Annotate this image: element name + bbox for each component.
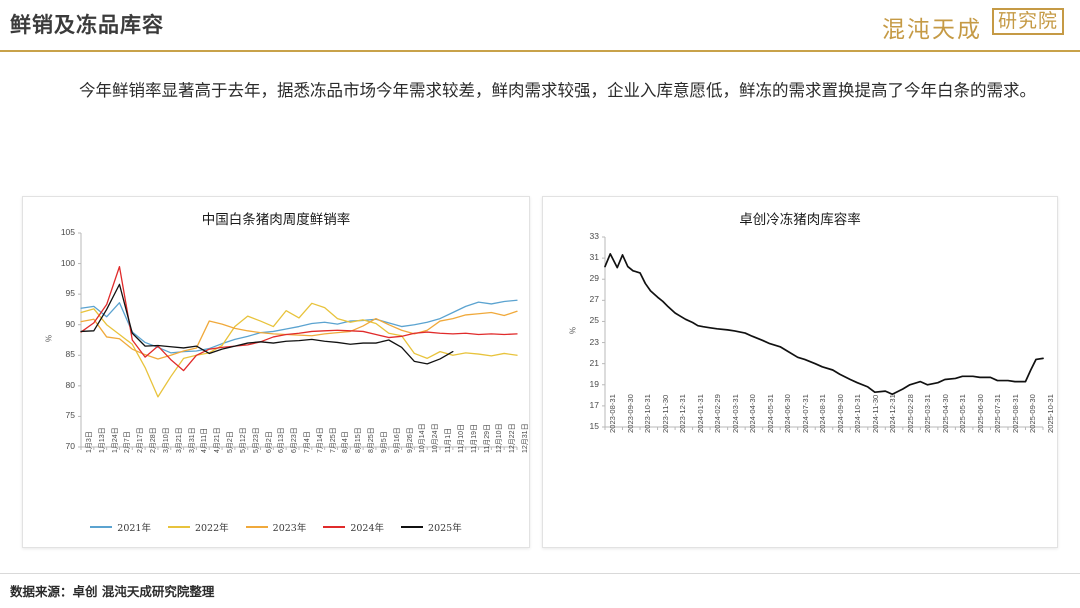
x-tick-label: 2024-09-30: [836, 394, 845, 433]
x-tick-label: 2月17日: [135, 427, 145, 453]
x-tick-label: 8月4日: [340, 431, 350, 453]
y-tick-label: 31: [573, 252, 599, 262]
x-tick-label: 7月14日: [315, 427, 325, 453]
x-tick-label: 2025-02-28: [906, 394, 915, 433]
x-tick-label: 2月28日: [148, 427, 158, 453]
x-tick-label: 12月31日: [520, 423, 530, 453]
chart-legend-left: 2021年2022年2023年2024年2025年: [23, 520, 529, 534]
x-tick-label: 12月10日: [494, 423, 504, 453]
x-tick-label: 7月25日: [328, 427, 338, 453]
y-axis-label: %: [45, 319, 54, 359]
x-tick-label: 6月13日: [276, 427, 286, 453]
x-tick-label: 9月5日: [379, 431, 389, 453]
page-header: 鲜销及冻品库容 混沌天成 研究院: [0, 0, 1080, 52]
legend-item[interactable]: 2025年: [401, 520, 462, 534]
y-tick-label: 105: [49, 227, 75, 237]
x-tick-label: 3月31日: [187, 427, 197, 453]
legend-color-swatch: [168, 526, 190, 528]
x-tick-label: 1月13日: [97, 427, 107, 453]
x-tick-label: 5月2日: [225, 431, 235, 453]
x-tick-label: 2025-05-31: [958, 394, 967, 433]
x-tick-label: 4月11日: [199, 428, 209, 453]
x-tick-label: 9月26日: [405, 427, 415, 453]
x-tick-label: 8月15日: [353, 427, 363, 453]
legend-label: 2024年: [350, 520, 384, 534]
x-tick-label: 2025-03-31: [923, 394, 932, 433]
y-tick-label: 17: [573, 400, 599, 410]
series-line: [81, 303, 517, 397]
y-tick-label: 27: [573, 294, 599, 304]
x-tick-label: 10月24日: [430, 423, 440, 453]
x-tick-label: 2025-10-31: [1046, 394, 1055, 433]
chart-panel-cold-storage-rate: 卓创冷冻猪肉库容率 15171921232527293133%2023-08-3…: [542, 196, 1058, 548]
x-tick-label: 2024-02-29: [713, 394, 722, 433]
y-tick-label: 29: [573, 273, 599, 283]
y-tick-label: 33: [573, 231, 599, 241]
series-line: [81, 300, 517, 353]
legend-item[interactable]: 2021年: [90, 520, 151, 534]
x-tick-label: 11月1日: [443, 428, 453, 453]
x-tick-label: 11月29日: [482, 424, 492, 453]
x-tick-label: 7月4日: [302, 431, 312, 453]
y-tick-label: 80: [49, 380, 75, 390]
x-tick-label: 6月2日: [264, 431, 274, 453]
y-tick-label: 95: [49, 288, 75, 298]
x-tick-label: 2024-04-30: [748, 394, 757, 433]
x-tick-label: 2025-06-30: [976, 394, 985, 433]
x-tick-label: 2023-10-31: [643, 394, 652, 433]
x-tick-label: 2023-12-31: [678, 394, 687, 433]
x-tick-label: 2024-11-30: [871, 395, 880, 433]
logo-company-name: 混沌天成: [882, 10, 982, 44]
x-tick-label: 12月22日: [507, 423, 517, 453]
x-tick-label: 2025-07-31: [993, 394, 1002, 433]
y-tick-label: 15: [573, 421, 599, 431]
x-tick-label: 8月25日: [366, 427, 376, 453]
x-tick-label: 2024-10-31: [853, 394, 862, 433]
legend-color-swatch: [246, 526, 268, 528]
chart-plot-right: 15171921232527293133%2023-08-312023-09-3…: [543, 223, 1059, 523]
x-tick-label: 2025-09-30: [1028, 394, 1037, 433]
legend-color-swatch: [401, 526, 423, 528]
x-tick-label: 3月10日: [161, 427, 171, 453]
company-logo: 混沌天成 研究院: [866, 4, 1066, 44]
x-tick-label: 2024-12-31: [888, 394, 897, 433]
x-tick-label: 10月14日: [417, 423, 427, 453]
series-line: [605, 254, 1043, 394]
x-tick-label: 3月21日: [174, 427, 184, 453]
legend-label: 2021年: [117, 520, 151, 534]
y-tick-label: 70: [49, 441, 75, 451]
legend-label: 2023年: [273, 520, 307, 534]
x-tick-label: 2023-11-30: [661, 395, 670, 433]
x-tick-label: 2024-08-31: [818, 394, 827, 433]
x-tick-label: 2024-06-30: [783, 394, 792, 433]
x-tick-label: 2025-08-31: [1011, 394, 1020, 433]
chart-svg: [23, 223, 531, 513]
legend-label: 2025年: [428, 520, 462, 534]
y-tick-label: 21: [573, 358, 599, 368]
legend-item[interactable]: 2023年: [246, 520, 307, 534]
x-tick-label: 9月16日: [392, 427, 402, 453]
x-tick-label: 2024-07-31: [801, 394, 810, 433]
x-tick-label: 6月23日: [289, 427, 299, 453]
legend-item[interactable]: 2024年: [323, 520, 384, 534]
x-tick-label: 2024-03-31: [731, 394, 740, 433]
x-tick-label: 4月21日: [212, 427, 222, 453]
y-tick-label: 100: [49, 258, 75, 268]
x-tick-label: 5月12日: [238, 427, 248, 453]
chart-svg: [543, 223, 1059, 523]
x-tick-label: 1月24日: [110, 427, 120, 453]
logo-institute-badge: 研究院: [992, 8, 1064, 35]
x-tick-label: 2023-09-30: [626, 394, 635, 433]
x-tick-label: 2024-05-31: [766, 394, 775, 433]
data-source-note: 数据来源：卓创 混沌天成研究院整理: [10, 581, 214, 600]
summary-paragraph: 今年鲜销率显著高于去年，据悉冻品市场今年需求较差，鲜肉需求较强，企业入库意愿低，…: [46, 76, 1046, 107]
y-axis-label: %: [569, 311, 578, 351]
x-tick-label: 2024-01-31: [696, 394, 705, 433]
legend-color-swatch: [323, 526, 345, 528]
x-tick-label: 1月3日: [84, 431, 94, 453]
page-title: 鲜销及冻品库容: [10, 9, 164, 39]
chart-plot-left: 707580859095100105%1月3日1月13日1月24日2月7日2月1…: [23, 223, 531, 513]
x-tick-label: 2023-08-31: [608, 394, 617, 433]
legend-label: 2022年: [195, 520, 229, 534]
y-tick-label: 19: [573, 379, 599, 389]
footer-divider: [0, 573, 1080, 574]
x-tick-label: 2025-04-30: [941, 394, 950, 433]
y-tick-label: 75: [49, 410, 75, 420]
chart-panel-fresh-sales-rate: 中国白条猪肉周度鲜销率 707580859095100105%1月3日1月13日…: [22, 196, 530, 548]
x-tick-label: 11月10日: [456, 424, 466, 453]
legend-color-swatch: [90, 526, 112, 528]
x-tick-label: 5月23日: [251, 427, 261, 453]
x-tick-label: 11月19日: [469, 424, 479, 453]
legend-item[interactable]: 2022年: [168, 520, 229, 534]
x-tick-label: 2月7日: [122, 431, 132, 453]
